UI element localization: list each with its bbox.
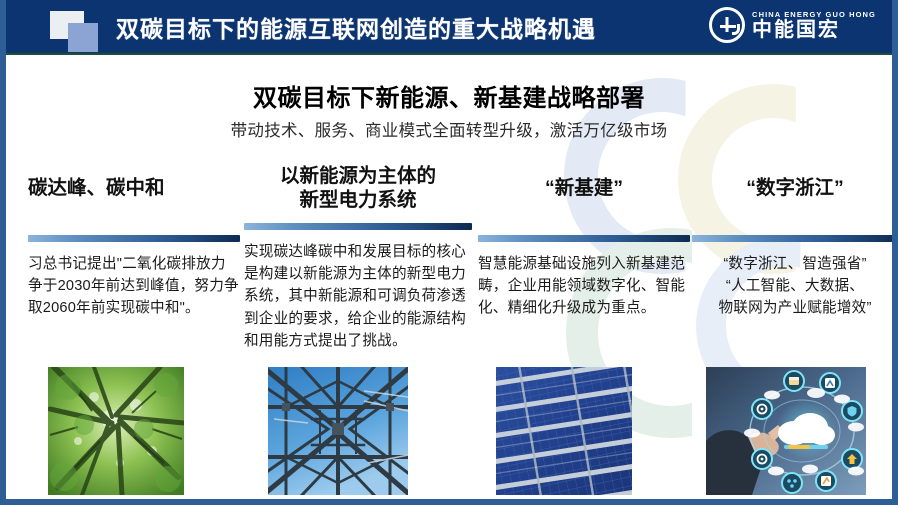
company-logo: CHINA ENERGY GUO HONG 中能国宏 xyxy=(709,6,876,44)
column-underline xyxy=(244,223,472,230)
column-digital-zhejiang: “数字浙江” “数字浙江、智造强省”“人工智能、大数据、物联网为产业赋能增效” xyxy=(692,165,898,320)
decor-square-blue xyxy=(68,23,98,52)
logo-chinese-name: 中能国宏 xyxy=(752,20,876,40)
cloud-computing-photo xyxy=(706,367,866,495)
column-heading: 以新能源为主体的新型电力系统 xyxy=(244,165,472,215)
slide-canvas: 双碳目标下的能源互联网创造的重大战略机遇 CHINA ENERGY GUO HO… xyxy=(0,0,898,505)
column-carbon-peak: 碳达峰、碳中和 习总书记提出"二氧化碳排放力争于2030年前达到峰值，努力争取2… xyxy=(28,165,240,320)
column-heading: 碳达峰、碳中和 xyxy=(28,165,240,227)
column-underline xyxy=(478,235,690,242)
header-bar: 双碳目标下的能源互联网创造的重大战略机遇 CHINA ENERGY GUO HO… xyxy=(0,0,898,55)
logo-circle-icon xyxy=(709,7,745,43)
solar-panel-photo xyxy=(496,367,632,495)
page-subtitle: 带动技术、服务、商业模式全面转型升级，激活万亿级市场 xyxy=(6,117,892,141)
column-heading: “数字浙江” xyxy=(692,165,898,227)
column-underline xyxy=(692,235,898,242)
column-underline xyxy=(28,235,240,242)
header-title: 双碳目标下的能源互联网创造的重大战略机遇 xyxy=(116,10,596,44)
column-new-infrastructure: “新基建” 智慧能源基础设施列入新基建范畴，企业用能领域数字化、智能化、精细化升… xyxy=(478,165,690,320)
column-body-text: 智慧能源基础设施列入新基建范畴，企业用能领域数字化、智能化、精细化升级成为重点。 xyxy=(478,253,690,320)
page-title: 双碳目标下新能源、新基建战略部署 xyxy=(6,78,892,113)
column-body-text: “数字浙江、智造强省”“人工智能、大数据、物联网为产业赋能增效” xyxy=(692,253,898,320)
column-body-text: 实现碳达峰碳中和发展目标的核心是构建以新能源为主体的新型电力系统，其中新能源和可… xyxy=(244,241,472,352)
logo-english-name: CHINA ENERGY GUO HONG xyxy=(752,10,876,19)
column-heading: “新基建” xyxy=(478,165,690,227)
column-body-text: 习总书记提出"二氧化碳排放力争于2030年前达到峰值，努力争取2060年前实现碳… xyxy=(28,253,240,320)
column-new-power-system: 以新能源为主体的新型电力系统 实现碳达峰碳中和发展目标的核心是构建以新能源为主体… xyxy=(244,165,472,352)
transmission-tower-photo xyxy=(268,367,408,495)
forest-canopy-photo xyxy=(48,367,184,495)
